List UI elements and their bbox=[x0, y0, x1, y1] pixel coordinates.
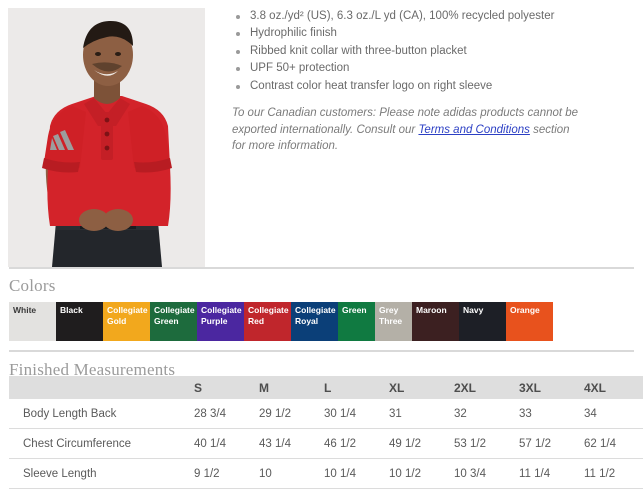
list-item: Contrast color heat transfer logo on rig… bbox=[232, 78, 632, 95]
swatch-label: Collegiate Royal bbox=[295, 305, 336, 326]
swatch-label: Black bbox=[60, 305, 101, 316]
color-swatch-white[interactable]: White bbox=[9, 302, 56, 341]
color-swatch-collegiate-green[interactable]: Collegiate Green bbox=[150, 302, 197, 341]
table-header-row: S M L XL 2XL 3XL 4XL bbox=[9, 376, 643, 399]
col-header-m: M bbox=[259, 376, 324, 399]
swatch-label: Collegiate Green bbox=[154, 305, 195, 326]
cell-m: 10 bbox=[259, 459, 324, 489]
swatch-label: Maroon bbox=[416, 305, 457, 316]
color-swatch-grey-three[interactable]: Grey Three bbox=[375, 302, 412, 341]
cell-m: 43 1/4 bbox=[259, 429, 324, 459]
cell-3xl: 57 1/2 bbox=[519, 429, 584, 459]
list-item: UPF 50+ protection bbox=[232, 60, 632, 77]
color-swatch-row: White Black Collegiate Gold Collegiate G… bbox=[9, 302, 553, 341]
product-image[interactable] bbox=[8, 8, 205, 267]
color-swatch-maroon[interactable]: Maroon bbox=[412, 302, 459, 341]
color-swatch-collegiate-red[interactable]: Collegiate Red bbox=[244, 302, 291, 341]
row-label: Body Length Back bbox=[9, 399, 194, 429]
cell-s: 28 3/4 bbox=[194, 399, 259, 429]
cell-3xl: 11 1/4 bbox=[519, 459, 584, 489]
section-divider-measurements bbox=[9, 350, 634, 352]
color-swatch-collegiate-purple[interactable]: Collegiate Purple bbox=[197, 302, 244, 341]
table-header: S M L XL 2XL 3XL 4XL bbox=[9, 376, 643, 399]
list-item: Ribbed knit collar with three-button pla… bbox=[232, 43, 632, 60]
spec-text: Hydrophilic finish bbox=[250, 27, 337, 39]
cell-2xl: 32 bbox=[454, 399, 519, 429]
table-body: Body Length Back 28 3/4 29 1/2 30 1/4 31… bbox=[9, 399, 643, 489]
col-header-s: S bbox=[194, 376, 259, 399]
model-illustration bbox=[8, 8, 205, 267]
col-header-3xl: 3XL bbox=[519, 376, 584, 399]
color-swatch-black[interactable]: Black bbox=[56, 302, 103, 341]
col-header-4xl: 4XL bbox=[584, 376, 643, 399]
bullet-icon bbox=[236, 67, 240, 71]
swatch-label: Navy bbox=[463, 305, 504, 316]
terms-and-conditions-link[interactable]: Terms and Conditions bbox=[418, 124, 529, 136]
spec-text: UPF 50+ protection bbox=[250, 62, 349, 74]
product-specs: 3.8 oz./yd² (US), 6.3 oz./L yd (CA), 100… bbox=[232, 8, 632, 155]
color-swatch-green[interactable]: Green bbox=[338, 302, 375, 341]
swatch-label: Collegiate Gold bbox=[107, 305, 148, 326]
list-item: 3.8 oz./yd² (US), 6.3 oz./L yd (CA), 100… bbox=[232, 8, 632, 25]
cell-l: 10 1/4 bbox=[324, 459, 389, 489]
cell-xl: 31 bbox=[389, 399, 454, 429]
cell-4xl: 34 bbox=[584, 399, 643, 429]
cell-4xl: 62 1/4 bbox=[584, 429, 643, 459]
color-swatch-orange[interactable]: Orange bbox=[506, 302, 553, 341]
row-label: Sleeve Length bbox=[9, 459, 194, 489]
cell-s: 40 1/4 bbox=[194, 429, 259, 459]
product-overview-section: 3.8 oz./yd² (US), 6.3 oz./L yd (CA), 100… bbox=[0, 0, 643, 267]
cell-m: 29 1/2 bbox=[259, 399, 324, 429]
table-row: Body Length Back 28 3/4 29 1/2 30 1/4 31… bbox=[9, 399, 643, 429]
spec-text: 3.8 oz./yd² (US), 6.3 oz./L yd (CA), 100… bbox=[250, 10, 554, 22]
col-header-xl: XL bbox=[389, 376, 454, 399]
bullet-icon bbox=[236, 32, 240, 36]
swatch-label: Collegiate Purple bbox=[201, 305, 242, 326]
canadian-customers-note: To our Canadian customers: Please note a… bbox=[232, 105, 584, 155]
measurements-table-wrap: S M L XL 2XL 3XL 4XL Body Length Back 28… bbox=[9, 376, 633, 489]
swatch-label: Collegiate Red bbox=[248, 305, 289, 326]
table-row: Chest Circumference 40 1/4 43 1/4 46 1/2… bbox=[9, 429, 643, 459]
col-header-2xl: 2XL bbox=[454, 376, 519, 399]
cell-2xl: 53 1/2 bbox=[454, 429, 519, 459]
bullet-icon bbox=[236, 85, 240, 89]
measurements-table: S M L XL 2XL 3XL 4XL Body Length Back 28… bbox=[9, 376, 643, 489]
color-swatch-collegiate-gold[interactable]: Collegiate Gold bbox=[103, 302, 150, 341]
cell-l: 30 1/4 bbox=[324, 399, 389, 429]
spec-text: Ribbed knit collar with three-button pla… bbox=[250, 45, 467, 57]
bullet-icon bbox=[236, 15, 240, 19]
list-item: Hydrophilic finish bbox=[232, 25, 632, 42]
col-header-blank bbox=[9, 376, 194, 399]
cell-2xl: 10 3/4 bbox=[454, 459, 519, 489]
cell-4xl: 11 1/2 bbox=[584, 459, 643, 489]
spec-bullet-list: 3.8 oz./yd² (US), 6.3 oz./L yd (CA), 100… bbox=[232, 8, 632, 95]
product-photo-canvas bbox=[8, 8, 205, 267]
bullet-icon bbox=[236, 50, 240, 54]
swatch-label: Orange bbox=[510, 305, 551, 316]
cell-s: 9 1/2 bbox=[194, 459, 259, 489]
cell-xl: 10 1/2 bbox=[389, 459, 454, 489]
swatch-label: Green bbox=[342, 305, 373, 316]
row-label: Chest Circumference bbox=[9, 429, 194, 459]
spec-text: Contrast color heat transfer logo on rig… bbox=[250, 80, 492, 92]
swatch-label: White bbox=[13, 305, 54, 316]
colors-heading: Colors bbox=[0, 269, 643, 296]
col-header-l: L bbox=[324, 376, 389, 399]
cell-l: 46 1/2 bbox=[324, 429, 389, 459]
cell-3xl: 33 bbox=[519, 399, 584, 429]
swatch-label: Grey Three bbox=[379, 305, 410, 326]
table-row: Sleeve Length 9 1/2 10 10 1/4 10 1/2 10 … bbox=[9, 459, 643, 489]
cell-xl: 49 1/2 bbox=[389, 429, 454, 459]
color-swatch-navy[interactable]: Navy bbox=[459, 302, 506, 341]
color-swatch-collegiate-royal[interactable]: Collegiate Royal bbox=[291, 302, 338, 341]
